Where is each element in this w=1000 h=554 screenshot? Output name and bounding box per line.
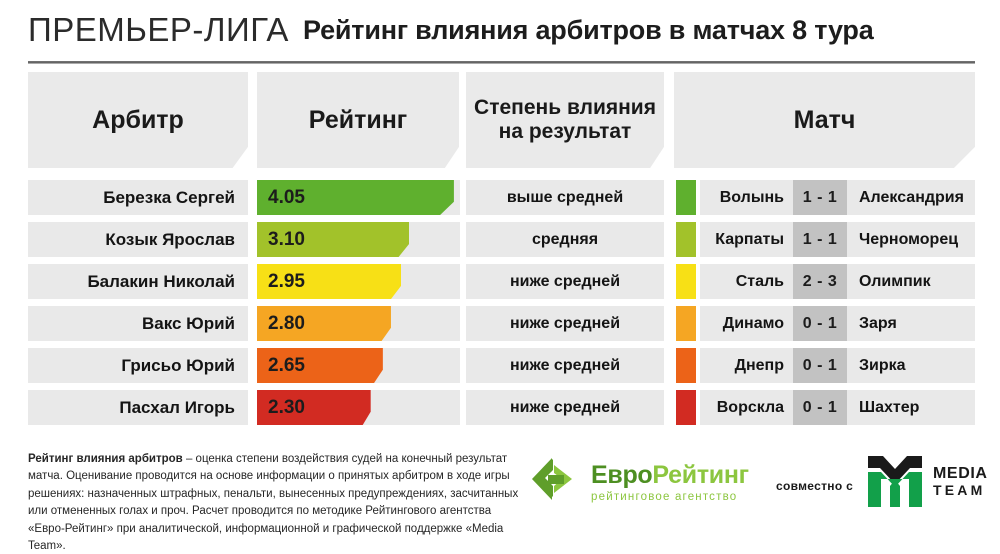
euro-rating-name-part1: Евро	[591, 461, 652, 489]
rating-bar: 4.05	[257, 180, 454, 215]
match-score: 1 - 1	[793, 222, 847, 257]
column-header-degree-line1: Степень влияния	[474, 96, 656, 120]
match-color-swatch	[676, 306, 696, 341]
media-team-line1: MEDIA	[933, 466, 988, 483]
rating-value: 4.05	[268, 187, 305, 209]
match-cell: Динамо0 - 1Заря	[700, 306, 975, 341]
referee-name: Вакс Юрий	[142, 314, 235, 334]
column-headers: Арбитр Рейтинг Степень влияния на резуль…	[0, 72, 1000, 168]
euro-rating-subtitle: рейтинговое агентство	[591, 492, 749, 504]
footer-logos: ЕвроРейтинг рейтинговое агентство совмес…	[528, 449, 988, 535]
euro-rating-name-part2: Рейтинг	[652, 461, 748, 489]
team-away: Заря	[847, 315, 975, 333]
team-away: Олимпик	[847, 273, 975, 291]
match-cell: Волынь1 - 1Александрия	[700, 180, 975, 215]
methodology-note: Рейтинг влияния арбитров – оценка степен…	[28, 451, 523, 554]
referee-name-cell: Пасхал Игорь	[28, 390, 248, 425]
match-color-swatch	[676, 264, 696, 299]
match-cell: Сталь2 - 3Олимпик	[700, 264, 975, 299]
match-color-swatch	[676, 390, 696, 425]
team-away: Александрия	[847, 189, 975, 207]
match-color-swatch	[676, 180, 696, 215]
team-home: Сталь	[700, 273, 793, 291]
column-header-match: Матч	[674, 72, 975, 168]
rating-bar: 2.30	[257, 390, 371, 425]
degree-value: ниже средней	[510, 315, 620, 333]
media-team-wordmark: MEDIA TEAM	[933, 466, 988, 497]
media-team-logo[interactable]: MEDIA TEAM	[866, 455, 988, 509]
match-cell: Карпаты1 - 1Черноморец	[700, 222, 975, 257]
degree-value: ниже средней	[510, 273, 620, 291]
referee-name-cell: Вакс Юрий	[28, 306, 248, 341]
team-away: Черноморец	[847, 231, 975, 249]
degree-cell: ниже средней	[466, 264, 664, 299]
team-home: Днепр	[700, 357, 793, 375]
degree-cell: ниже средней	[466, 390, 664, 425]
degree-cell: выше средней	[466, 180, 664, 215]
euro-rating-mark-icon	[528, 457, 584, 509]
rating-value: 2.95	[268, 271, 305, 293]
column-header-degree: Степень влияния на результат	[466, 72, 664, 168]
rating-track: 3.10	[257, 222, 460, 257]
rating-track: 2.65	[257, 348, 460, 383]
team-home: Карпаты	[700, 231, 793, 249]
referee-name: Балакин Николай	[87, 272, 235, 292]
degree-value: выше средней	[507, 189, 623, 207]
rating-track: 4.05	[257, 180, 460, 215]
table-row: Балакин Николай2.95ниже среднейСталь2 - …	[0, 264, 1000, 306]
rating-value: 2.80	[268, 313, 305, 335]
masthead: ПРЕМЬЕР-ЛИГА Рейтинг влияния арбитров в …	[28, 6, 975, 54]
degree-value: ниже средней	[510, 357, 620, 375]
rating-value: 2.30	[268, 397, 305, 419]
table-row: Козык Ярослав3.10средняяКарпаты1 - 1Черн…	[0, 222, 1000, 264]
rating-track: 2.80	[257, 306, 460, 341]
match-score: 0 - 1	[793, 348, 847, 383]
table-row: Грисьо Юрий2.65ниже среднейДнепр0 - 1Зир…	[0, 348, 1000, 390]
team-away: Зирка	[847, 357, 975, 375]
column-header-referee: Арбитр	[28, 72, 248, 168]
joint-label: совместно с	[776, 479, 853, 493]
referee-name: Березка Сергей	[103, 188, 235, 208]
column-header-rating-label: Рейтинг	[309, 106, 407, 134]
media-team-line2: TEAM	[933, 483, 988, 498]
rating-bar: 3.10	[257, 222, 409, 257]
team-home: Динамо	[700, 315, 793, 333]
referee-name-cell: Березка Сергей	[28, 180, 248, 215]
referee-name: Грисьо Юрий	[121, 356, 235, 376]
match-cell: Днепр0 - 1Зирка	[700, 348, 975, 383]
match-score: 2 - 3	[793, 264, 847, 299]
media-team-mark-icon	[866, 455, 924, 509]
euro-rating-wordmark: ЕвроРейтинг рейтинговое агентство	[591, 463, 749, 504]
table-row: Березка Сергей4.05выше среднейВолынь1 - …	[0, 180, 1000, 222]
table-body: Березка Сергей4.05выше среднейВолынь1 - …	[0, 180, 1000, 432]
column-header-referee-label: Арбитр	[92, 106, 184, 134]
degree-value: ниже средней	[510, 399, 620, 417]
rating-track: 2.95	[257, 264, 460, 299]
column-header-degree-line2: на результат	[474, 120, 656, 144]
team-home: Волынь	[700, 189, 793, 207]
header-divider	[28, 61, 975, 64]
rating-value: 3.10	[268, 229, 305, 251]
rating-bar: 2.65	[257, 348, 383, 383]
match-color-swatch	[676, 348, 696, 383]
infographic-root: ПРЕМЬЕР-ЛИГА Рейтинг влияния арбитров в …	[0, 0, 1000, 554]
match-cell: Ворскла0 - 1Шахтер	[700, 390, 975, 425]
referee-name-cell: Балакин Николай	[28, 264, 248, 299]
rating-track: 2.30	[257, 390, 460, 425]
referee-name: Пасхал Игорь	[119, 398, 235, 418]
match-score: 0 - 1	[793, 306, 847, 341]
degree-cell: ниже средней	[466, 306, 664, 341]
match-score: 1 - 1	[793, 180, 847, 215]
rating-value: 2.65	[268, 355, 305, 377]
methodology-note-lead: Рейтинг влияния арбитров	[28, 453, 183, 465]
column-header-match-label: Матч	[794, 106, 856, 134]
column-header-rating: Рейтинг	[257, 72, 459, 168]
referee-name-cell: Козык Ярослав	[28, 222, 248, 257]
rating-bar: 2.95	[257, 264, 401, 299]
match-score: 0 - 1	[793, 390, 847, 425]
degree-value: средняя	[532, 231, 598, 249]
rating-bar: 2.80	[257, 306, 391, 341]
euro-rating-logo[interactable]: ЕвроРейтинг рейтинговое агентство	[528, 457, 749, 509]
team-away: Шахтер	[847, 399, 975, 417]
match-color-swatch	[676, 222, 696, 257]
team-home: Ворскла	[700, 399, 793, 417]
table-row: Пасхал Игорь2.30ниже среднейВорскла0 - 1…	[0, 390, 1000, 432]
league-name: ПРЕМЬЕР-ЛИГА	[28, 11, 289, 49]
degree-cell: ниже средней	[466, 348, 664, 383]
methodology-note-body: – оценка степени воздействия судей на ко…	[28, 453, 518, 552]
table-row: Вакс Юрий2.80ниже среднейДинамо0 - 1Заря	[0, 306, 1000, 348]
degree-cell: средняя	[466, 222, 664, 257]
referee-name-cell: Грисьо Юрий	[28, 348, 248, 383]
referee-name: Козык Ярослав	[105, 230, 235, 250]
page-title: Рейтинг влияния арбитров в матчах 8 тура	[303, 15, 874, 46]
